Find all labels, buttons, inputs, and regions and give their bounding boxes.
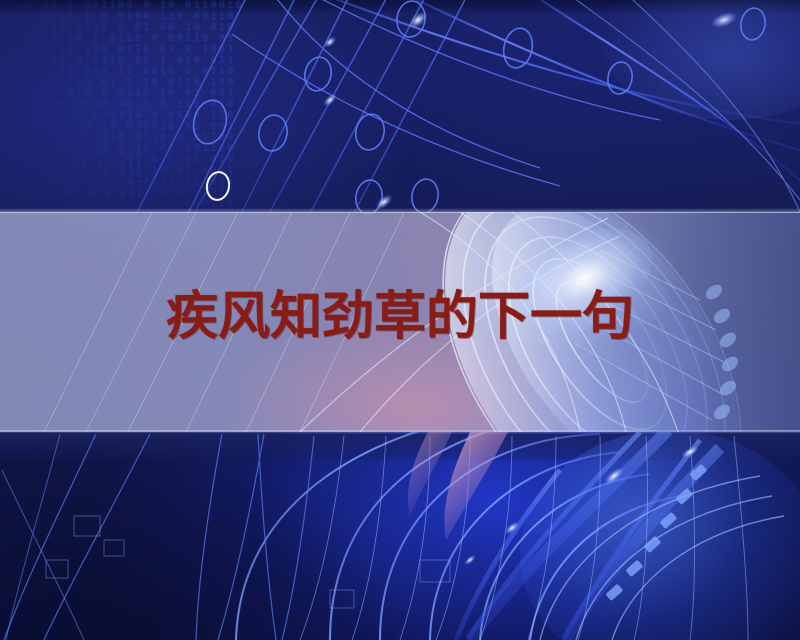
binary-row: 1 0 0110 0110 00 1 0 110 010 (0, 99, 320, 110)
top-right-glow (600, 0, 800, 120)
binary-row: 00 1 0110 010 0110 (0, 20, 230, 30)
binary-row: 0110010 00 1 0110 0 00110 01 (0, 33, 320, 44)
binary-row: 0110 10 0 0110 0 1 (0, 30, 230, 40)
binary-row: 0 01 0110 010 11 0010 0 0110 (0, 66, 320, 77)
binary-row: 00 010010 1 0 0100 110 00110 (0, 11, 320, 22)
binary-row: 0110 1 0 0110 0 10 01 001100 (0, 143, 320, 154)
binary-row: 00 1100 010 0 0110 10 01 001 (0, 88, 320, 99)
binary-row: 0 0110 001 0110 0 10 01 0011 (0, 165, 320, 176)
binary-row: 0110 0 10 0 01 001 (0, 10, 230, 20)
binary-row: 0 0110 00 1 010 0110 0 01100 (0, 132, 320, 143)
binary-row: 0110 01 0 001100 0 10 0110010 (0, 0, 320, 11)
binary-row: 0110 10 0 01 0 011 (0, 110, 230, 120)
binary-row: 00 1 0 0110 01 010 (0, 150, 230, 160)
below-band-strip (0, 434, 800, 460)
binary-row: 1001 0 0110 10 0110 0 01 010 (0, 154, 320, 165)
binary-row: 010 1100 0 0110 00 1 010 011 (0, 55, 320, 66)
banner-image: 0110 01 0 001100 0 10 011001000 010010 1… (0, 0, 800, 640)
binary-row: 00 1 0110 0 010 0110 01 1000 (0, 187, 320, 198)
title-band-top-edge (0, 208, 800, 213)
binary-row: 0 01 0110 0 10 011 (0, 40, 230, 50)
binary-row: 1 001100 0110 0 01 00 10 010 (0, 22, 320, 33)
binary-row: 0 0110 1 0 0110 01 (0, 70, 230, 80)
background-top-strip (0, 0, 800, 14)
binary-row: 00 10 0110 0 01 01 (0, 180, 230, 190)
binary-row: 0 0110 01 0 0110 1 (0, 0, 230, 10)
binary-row: 00 010 0110 10 0 0110 01 001 (0, 121, 320, 132)
binary-row: 00 0110 10 0 01 00 (0, 90, 230, 100)
binary-row: 00 0110 0 110 0 01 (0, 120, 230, 130)
binary-row: 0110 0 10 0110 001 (0, 140, 230, 150)
binary-row: 0 0110 0 01 10 011 (0, 160, 230, 170)
binary-row: 0110 0 0110 01 001 (0, 50, 230, 60)
binary-digits-texture-bottom-right: 0 0110 01 0 0110 10110 0 10 0 01 00100 1… (0, 0, 230, 210)
binary-digits-texture-top-right: 0110 01 0 001100 0 10 011001000 010010 1… (0, 0, 320, 230)
binary-row: 00 10 0 0110 0 110 (0, 60, 230, 70)
binary-row: 0110 0 01 10 0 011 (0, 80, 230, 90)
binary-row: 0110 0 0110 01 0 10 0110 100 (0, 77, 320, 88)
binary-row: 00 0 0110 100 0110 01 0 1001 (0, 44, 320, 55)
page-title: 疾风知劲草的下一句 (0, 288, 800, 346)
lower-right-glow (520, 430, 800, 640)
binary-row: 0110 0 10 0110 0 0110 10 001 (0, 176, 320, 187)
binary-row: 0 01 0 0110 0110 1 (0, 100, 230, 110)
binary-row: 0110 01 0 0 10 001 (0, 170, 230, 180)
binary-row: 0 0110 01 0 10 011 (0, 130, 230, 140)
binary-row: 0110 01 10 0 0110 0 0100 110 (0, 110, 320, 121)
binary-row: 0 01 0110 10 0 011 (0, 190, 230, 200)
